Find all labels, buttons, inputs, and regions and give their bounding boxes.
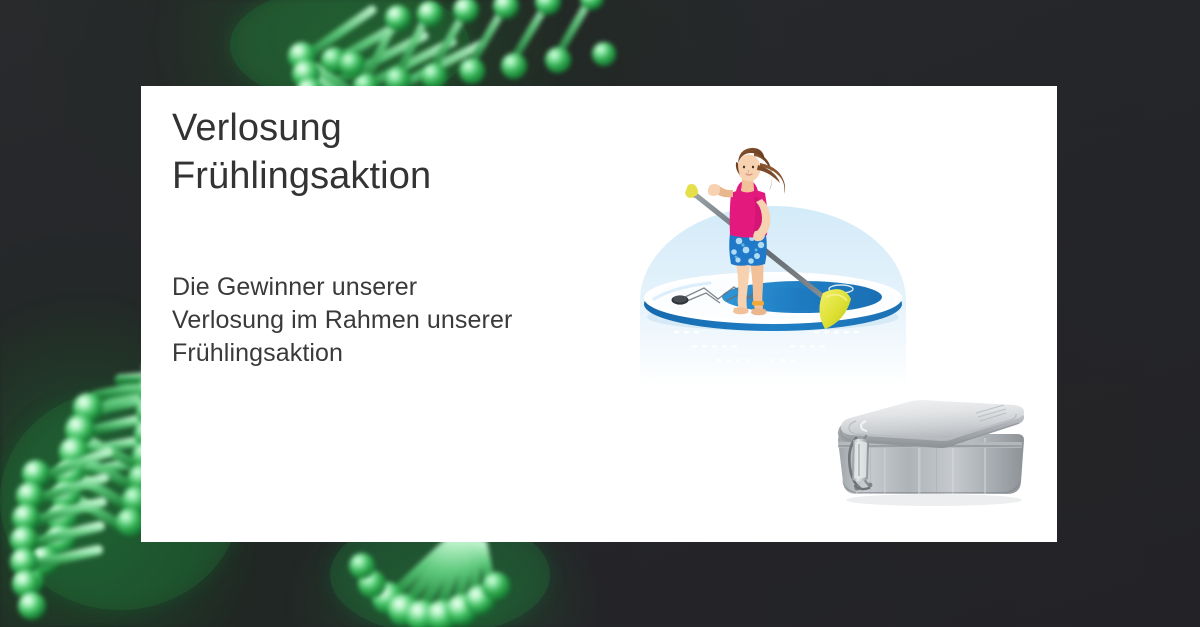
- content-card: Verlosung Frühlingsaktion Die Gewinner u…: [141, 86, 1057, 542]
- paddleboard: [644, 272, 902, 331]
- page-title: Verlosung Frühlingsaktion: [172, 104, 431, 200]
- ankle-strap: [752, 301, 764, 306]
- lunchbox-shadow: [846, 494, 1022, 506]
- head: [738, 155, 761, 182]
- left-hand: [708, 184, 720, 196]
- body-text: Die Gewinner unserer Verlosung im Rahmen…: [172, 271, 512, 370]
- promo-banner: Verlosung Frühlingsaktion Die Gewinner u…: [0, 0, 1200, 627]
- stainless-steel-lunchbox-illustration: [826, 388, 1036, 516]
- sup-paddleboard-illustration: [630, 141, 915, 396]
